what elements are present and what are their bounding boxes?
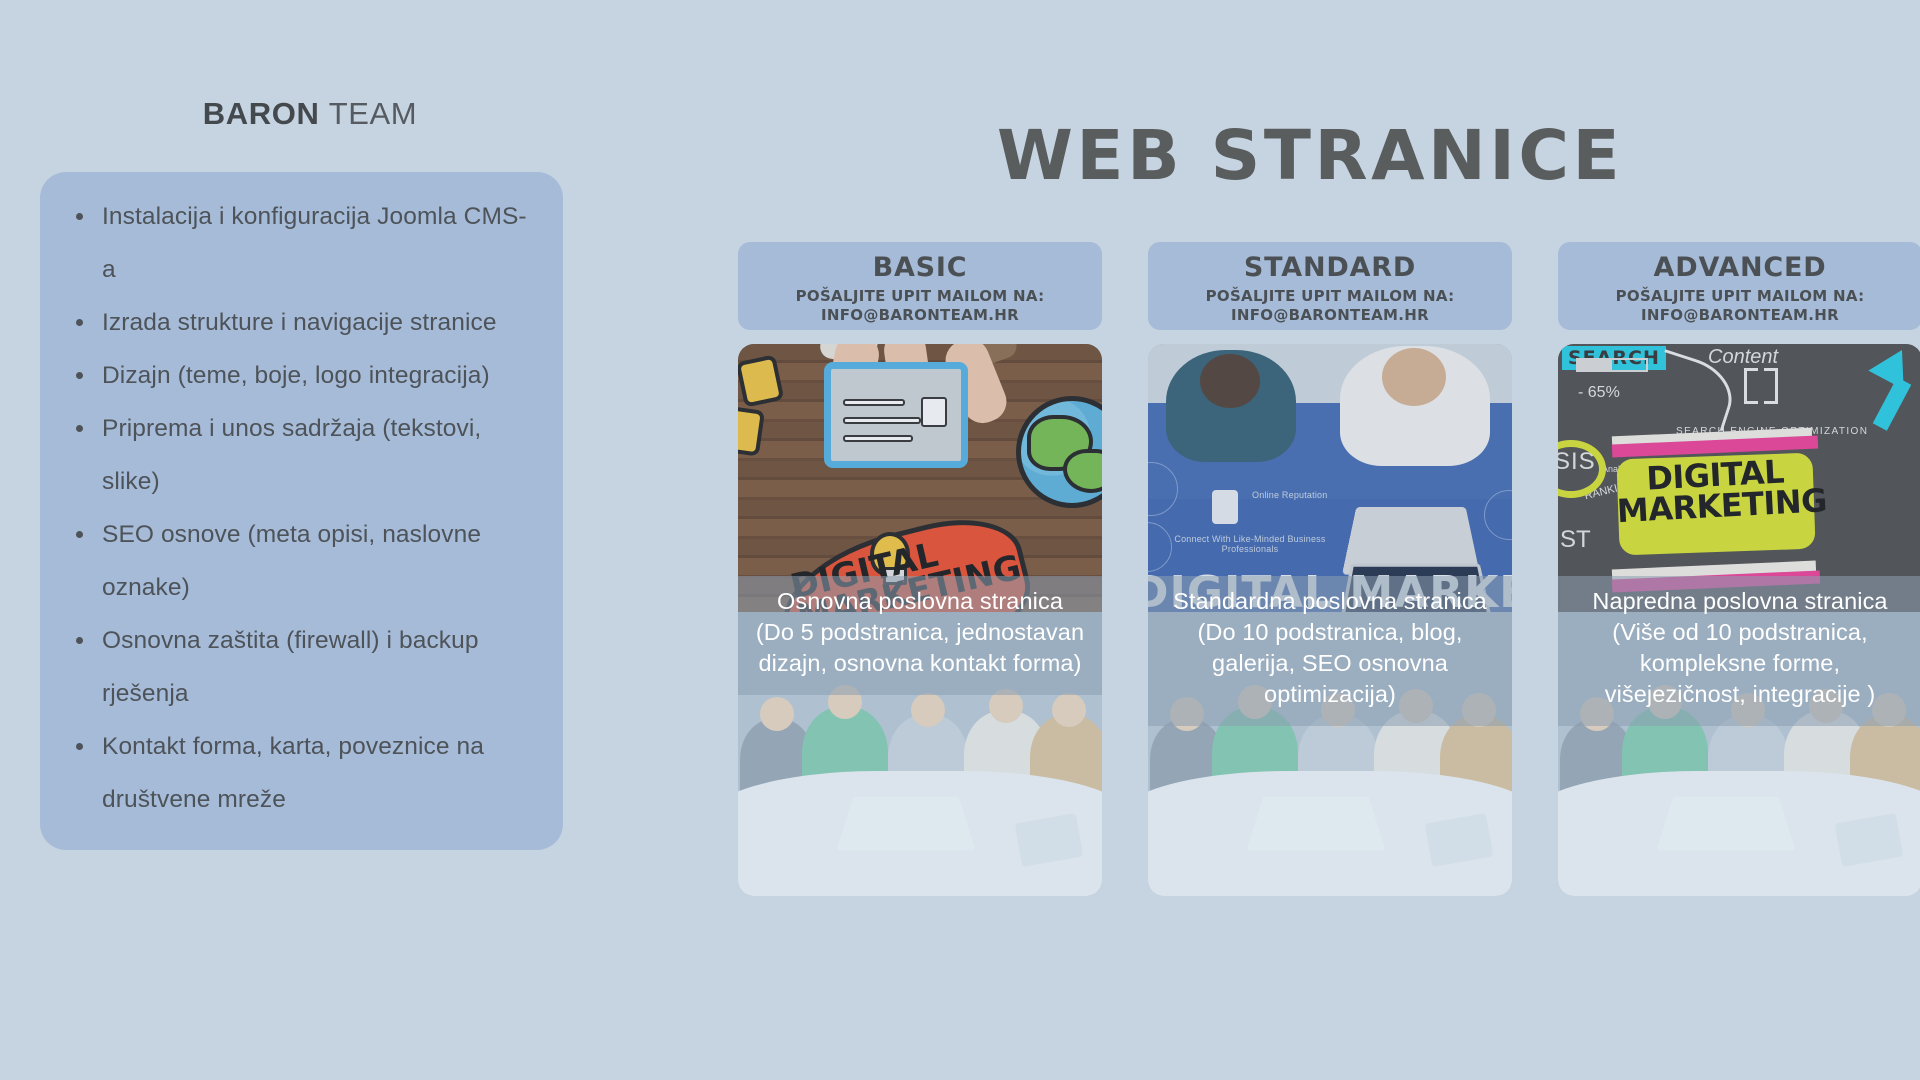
main-heading: WEB STRANICE xyxy=(720,122,1900,191)
list-item-label: Izrada strukture i navigacije stranice xyxy=(102,309,497,336)
image-veil xyxy=(738,344,1102,612)
contact-email: INFO@BARONTEAM.HR xyxy=(748,306,1092,325)
package-header-standard: STANDARD POŠALJITE UPIT MAILOM NA: INFO@… xyxy=(1148,242,1512,330)
bullet-icon xyxy=(76,637,83,644)
contact-line: POŠALJITE UPIT MAILOM NA: xyxy=(1158,287,1502,306)
package-description: Standardna poslovna stranica(Do 10 podst… xyxy=(1148,576,1512,726)
bullet-icon xyxy=(76,743,83,750)
marketing-illustration-meeting: Online Reputation Connect With Like-Mind… xyxy=(1148,344,1512,612)
package-card-basic[interactable]: BASIC POŠALJITE UPIT MAILOM NA: INFO@BAR… xyxy=(738,242,1102,896)
bullet-icon xyxy=(76,213,83,220)
tier-label: STANDARD xyxy=(1158,254,1502,282)
list-item-label: SEO osnove (meta opisi, naslovne oznake) xyxy=(102,521,481,601)
marketing-illustration-chalkboard: SEARCH Content - 65% SEARCH ENGINE OPTIM… xyxy=(1558,344,1920,612)
slide-root: BARON TEAM Instalacija i konfiguracija J… xyxy=(0,0,1920,1080)
contact-instruction: POŠALJITE UPIT MAILOM NA: INFO@BARONTEAM… xyxy=(748,287,1092,325)
services-column: BARON TEAM Instalacija i konfiguracija J… xyxy=(40,96,580,850)
bullet-icon xyxy=(76,319,83,326)
contact-line: POŠALJITE UPIT MAILOM NA: xyxy=(1568,287,1912,306)
page-title: BARON TEAM xyxy=(40,96,580,132)
image-veil xyxy=(1148,344,1512,612)
list-item: Instalacija i konfiguracija Joomla CMS-a xyxy=(66,190,537,296)
contact-line: POŠALJITE UPIT MAILOM NA: xyxy=(748,287,1092,306)
list-item: Kontakt forma, karta, poveznice na društ… xyxy=(66,720,537,826)
package-media-advanced: SEARCH Content - 65% SEARCH ENGINE OPTIM… xyxy=(1558,344,1920,896)
list-item: SEO osnove (meta opisi, naslovne oznake) xyxy=(66,508,537,614)
brand-suffix: TEAM xyxy=(329,96,418,131)
package-description: Osnovna poslovna stranica(Do 5 podstrani… xyxy=(738,576,1102,695)
tier-label: ADVANCED xyxy=(1568,254,1912,282)
bullet-icon xyxy=(76,425,83,432)
list-item: Priprema i unos sadržaja (tekstovi, slik… xyxy=(66,402,537,508)
services-panel: Instalacija i konfiguracija Joomla CMS-a… xyxy=(40,172,563,850)
services-list: Instalacija i konfiguracija Joomla CMS-a… xyxy=(66,190,537,826)
list-item-label: Instalacija i konfiguracija Joomla CMS-a xyxy=(102,203,527,283)
package-media-basic: DIGITALMARKETING xyxy=(738,344,1102,896)
packages-column: WEB STRANICE BASIC POŠALJITE UPIT MAILOM… xyxy=(720,0,1920,1080)
list-item-label: Kontakt forma, karta, poveznice na društ… xyxy=(102,733,484,813)
package-cards: BASIC POŠALJITE UPIT MAILOM NA: INFO@BAR… xyxy=(738,242,1920,896)
package-card-advanced[interactable]: ADVANCED POŠALJITE UPIT MAILOM NA: INFO@… xyxy=(1558,242,1920,896)
marketing-illustration-desk: DIGITALMARKETING xyxy=(738,344,1102,612)
list-item: Izrada strukture i navigacije stranice xyxy=(66,296,537,349)
bullet-icon xyxy=(76,531,83,538)
package-card-standard[interactable]: STANDARD POŠALJITE UPIT MAILOM NA: INFO@… xyxy=(1148,242,1512,896)
package-description: Napredna poslovna stranica(Više od 10 po… xyxy=(1558,576,1920,726)
list-item: Dizajn (teme, boje, logo integracija) xyxy=(66,349,537,402)
contact-instruction: POŠALJITE UPIT MAILOM NA: INFO@BARONTEAM… xyxy=(1158,287,1502,325)
package-media-standard: Online Reputation Connect With Like-Mind… xyxy=(1148,344,1512,896)
tier-label: BASIC xyxy=(748,254,1092,282)
package-header-advanced: ADVANCED POŠALJITE UPIT MAILOM NA: INFO@… xyxy=(1558,242,1920,330)
list-item-label: Dizajn (teme, boje, logo integracija) xyxy=(102,362,490,389)
list-item-label: Osnovna zaštita (firewall) i backup rješ… xyxy=(102,627,479,707)
brand-name: BARON xyxy=(203,96,320,131)
image-veil xyxy=(1558,344,1920,612)
list-item: Osnovna zaštita (firewall) i backup rješ… xyxy=(66,614,537,720)
bullet-icon xyxy=(76,372,83,379)
contact-email: INFO@BARONTEAM.HR xyxy=(1568,306,1912,325)
contact-email: INFO@BARONTEAM.HR xyxy=(1158,306,1502,325)
list-item-label: Priprema i unos sadržaja (tekstovi, slik… xyxy=(102,415,481,495)
contact-instruction: POŠALJITE UPIT MAILOM NA: INFO@BARONTEAM… xyxy=(1568,287,1912,325)
package-header-basic: BASIC POŠALJITE UPIT MAILOM NA: INFO@BAR… xyxy=(738,242,1102,330)
